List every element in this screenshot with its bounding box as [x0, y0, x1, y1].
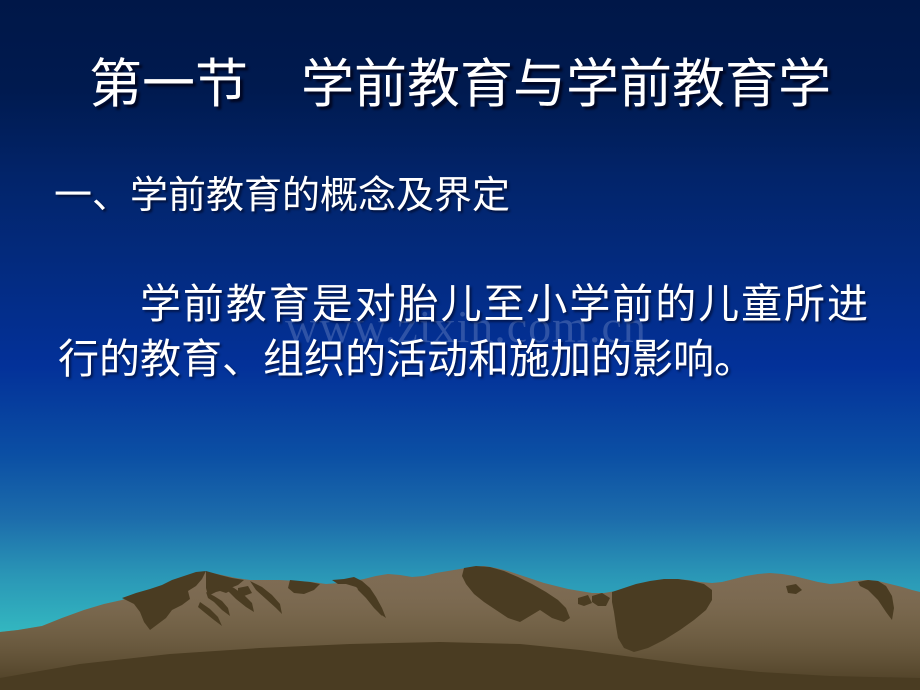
presentation-slide: www.zixin.com.cn 第一节 学前教育与学前教育学 一、学前教育的概… [0, 0, 920, 690]
slide-body: 学前教育是对胎儿至小学前的儿童所进行的教育、组织的活动和施加的影响。 [58, 277, 868, 387]
slide-subtitle: 一、学前教育的概念及界定 [54, 171, 754, 221]
page-title: 第一节 学前教育与学前教育学 [0, 52, 920, 118]
slide-text-content: 第一节 学前教育与学前教育学 一、学前教育的概念及界定 学前教育是对胎儿至小学前… [0, 0, 920, 690]
slide-body-paragraph: 学前教育是对胎儿至小学前的儿童所进行的教育、组织的活动和施加的影响。 [58, 277, 868, 387]
